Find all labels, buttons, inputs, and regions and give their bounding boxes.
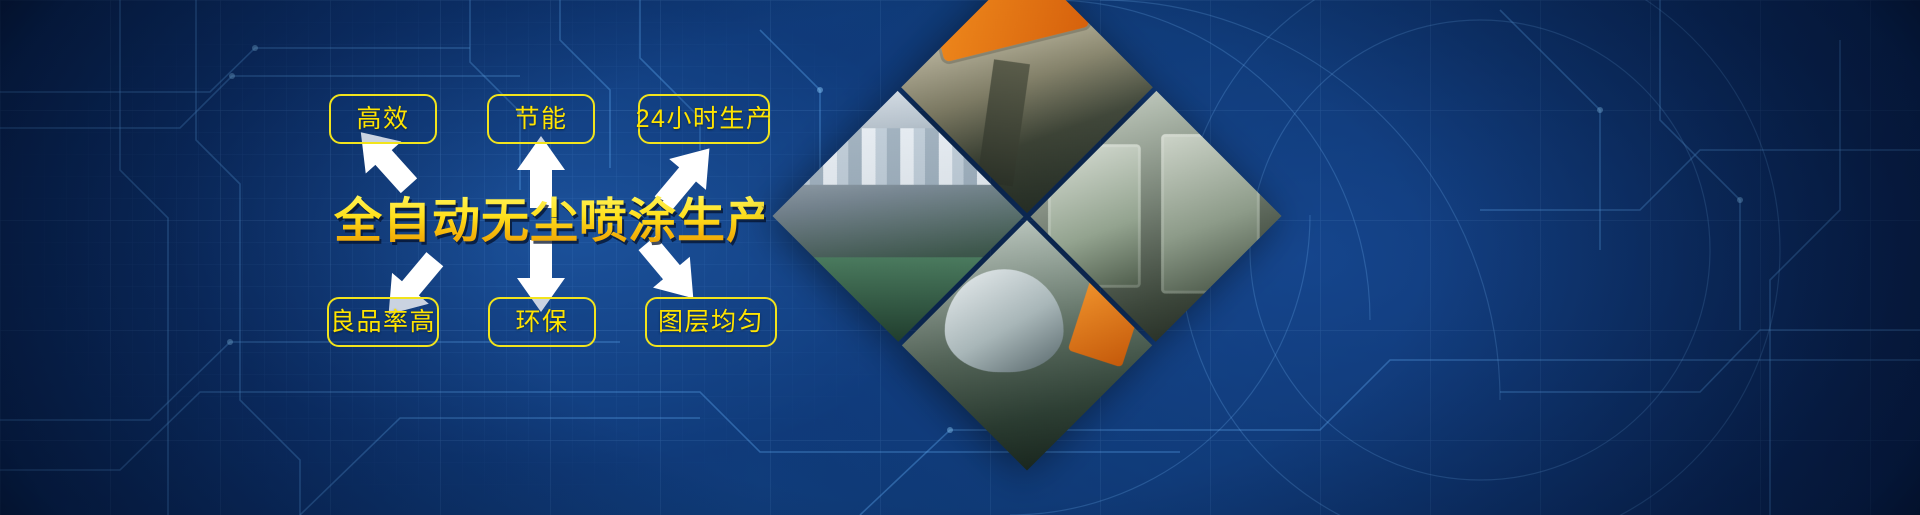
benefit-pill-efficiency[interactable]: 高效 — [329, 94, 437, 144]
benefit-label: 环保 — [515, 310, 568, 335]
benefit-label: 节能 — [514, 107, 567, 132]
benefits-diagram: 高效 节能 24小时生产 良品率高 环保 图层均匀 全自动无尘喷涂生产线 — [0, 0, 860, 515]
benefit-label: 高效 — [356, 107, 409, 132]
benefit-pill-even-coating[interactable]: 图层均匀 — [645, 297, 777, 347]
benefit-label: 24小时生产 — [636, 107, 773, 132]
banner-headline: 全自动无尘喷涂生产线 — [334, 194, 764, 250]
benefit-pill-round-clock[interactable]: 24小时生产 — [638, 94, 770, 144]
hero-banner: 高效 节能 24小时生产 良品率高 环保 图层均匀 全自动无尘喷涂生产线 — [0, 0, 1920, 515]
arrow-group — [0, 0, 860, 515]
benefit-pill-yield-rate[interactable]: 良品率高 — [327, 297, 439, 347]
benefit-pill-eco-friendly[interactable]: 环保 — [488, 297, 596, 347]
benefit-label: 良品率高 — [330, 310, 436, 335]
benefit-pill-energy-saving[interactable]: 节能 — [487, 94, 595, 144]
benefit-label: 图层均匀 — [658, 310, 764, 335]
